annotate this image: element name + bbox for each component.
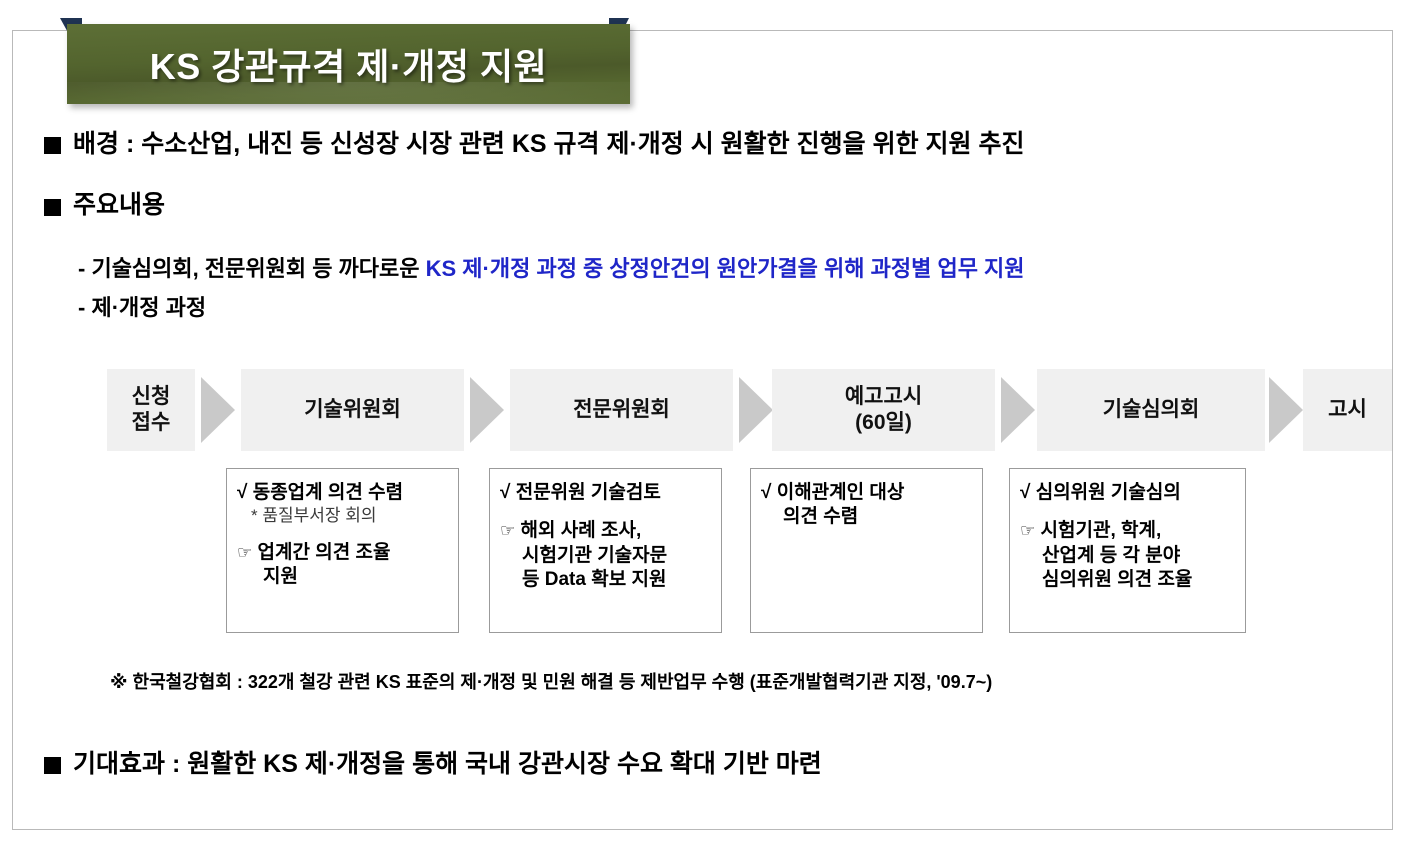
detail-4-check-line: √ 심의위원 기술심의 — [1020, 481, 1235, 505]
detail-4-hand-line: ☞ 시험기관, 학계, — [1020, 519, 1235, 543]
detail-2-check-line: √ 전문위원 기술검토 — [500, 481, 711, 505]
detail-4-hand-line3: 심의위원 의견 조율 — [1020, 568, 1235, 592]
detail-box-preannouncement: √ 이해관계인 대상 의견 수렴 — [750, 468, 983, 633]
dash-marker: - — [78, 295, 85, 320]
process-flow-diagram: 신청 접수 기술위원회 전문위원회 예고고시 (60일) 기술심의회 고시 — [107, 369, 1362, 451]
flow-stage-expert-committee: 전문위원회 — [510, 369, 733, 451]
page-title: KS 강관규격 제·개정 지원 — [150, 38, 548, 90]
detail-box-technical-committee: √ 동종업계 의견 수렴 * 품질부서장 회의 ☞ 업계간 의견 조율 지원 — [226, 468, 459, 633]
footnote: ※ 한국철강협회 : 322개 철강 관련 KS 표준의 제·개정 및 민원 해… — [110, 668, 992, 694]
detail-1-hand-line1: 업계간 의견 조율 — [258, 542, 391, 563]
flow-arrow-icon-3 — [739, 377, 773, 443]
flow-stage-notification-label: 고시 — [1328, 397, 1367, 423]
detail-4-hand-line1: 시험기관, 학계, — [1041, 520, 1162, 541]
section-expected-effect-text: 기대효과 : 원활한 KS 제·개정을 통해 국내 강관시장 수요 확대 기반 … — [73, 752, 822, 777]
square-bullet-icon — [44, 137, 61, 154]
detail-2-hand-line2: 시험기관 기술자문 — [500, 544, 711, 568]
detail-2-hand-line: ☞ 해외 사례 조사, — [500, 519, 711, 543]
detail-3-check-text2: 의견 수렴 — [761, 505, 972, 529]
detail-2-hand-line3: 등 Data 확보 지원 — [500, 568, 711, 592]
pointing-hand-icon: ☞ — [237, 542, 252, 564]
detail-1-hand-line: ☞ 업계간 의견 조율 — [237, 541, 448, 565]
footnote-text: 한국철강협회 : 322개 철강 관련 KS 표준의 제·개정 및 민원 해결 … — [133, 672, 993, 692]
detail-3-check-line: √ 이해관계인 대상 — [761, 481, 972, 505]
main-content-sub-item-1: - 기술심의회, 전문위원회 등 까다로운 KS 제·개정 과정 중 상정안건의… — [78, 258, 1025, 280]
detail-2-spacer — [500, 505, 711, 519]
pointing-hand-icon: ☞ — [500, 520, 515, 542]
flow-stage-deliberation-committee: 기술심의회 — [1037, 369, 1265, 451]
dash-marker: - — [78, 256, 85, 281]
flow-stage-preannouncement-line1: 예고고시 — [845, 384, 922, 410]
flow-stage-deliberation-committee-label: 기술심의회 — [1103, 397, 1200, 423]
detail-2-check-text: 전문위원 기술검토 — [516, 482, 661, 503]
section-background-text: 배경 : 수소산업, 내진 등 신성장 시장 관련 KS 규격 제·개정 시 원… — [73, 132, 1024, 157]
detail-2-hand-line1: 해외 사례 조사, — [521, 520, 642, 541]
sub-item-1-plain: 기술심의회, 전문위원회 등 까다로운 — [91, 256, 425, 281]
flow-stage-application-line1: 신청 — [132, 384, 171, 410]
title-banner: KS 강관규격 제·개정 지원 — [22, 18, 630, 104]
flow-stage-preannouncement-line2: (60일) — [845, 410, 922, 436]
check-mark-icon: √ — [237, 481, 247, 505]
detail-4-spacer — [1020, 505, 1235, 519]
detail-1-note: * 품질부서장 회의 — [237, 505, 448, 527]
banner-body: KS 강관규격 제·개정 지원 — [67, 24, 630, 104]
square-bullet-icon — [44, 757, 61, 774]
flow-arrow-icon-1 — [201, 377, 235, 443]
section-main-content: 주요내용 — [44, 193, 165, 218]
flow-stage-technical-committee-label: 기술위원회 — [304, 397, 401, 423]
flow-arrow-icon-2 — [470, 377, 504, 443]
detail-1-check-line: √ 동종업계 의견 수렴 — [237, 481, 448, 505]
section-background: 배경 : 수소산업, 내진 등 신성장 시장 관련 KS 규격 제·개정 시 원… — [44, 132, 1024, 157]
detail-4-hand-line2: 산업계 등 각 분야 — [1020, 544, 1235, 568]
flow-stage-application: 신청 접수 — [107, 369, 195, 451]
sub-item-1-highlight: KS 제·개정 과정 중 상정안건의 원안가결을 위해 과정별 업무 지원 — [426, 256, 1025, 281]
flow-stage-technical-committee: 기술위원회 — [241, 369, 464, 451]
check-mark-icon: √ — [761, 481, 771, 505]
detail-1-spacer — [237, 527, 448, 541]
section-main-content-heading: 주요내용 — [73, 193, 165, 218]
footnote-marker-icon: ※ — [110, 672, 128, 692]
flow-stage-application-line2: 접수 — [132, 410, 171, 436]
flow-arrow-icon-4 — [1001, 377, 1035, 443]
detail-box-deliberation-committee: √ 심의위원 기술심의 ☞ 시험기관, 학계, 산업계 등 각 분야 심의위원 … — [1009, 468, 1246, 633]
detail-1-hand-line2: 지원 — [237, 565, 448, 589]
flow-stage-preannouncement: 예고고시 (60일) — [772, 369, 995, 451]
flow-stage-notification: 고시 — [1303, 369, 1392, 451]
sub-item-2-plain: 제·개정 과정 — [91, 295, 206, 320]
pointing-hand-icon: ☞ — [1020, 520, 1035, 542]
main-content-sub-item-2: - 제·개정 과정 — [78, 297, 206, 319]
slide-root: KS 강관규격 제·개정 지원 배경 : 수소산업, 내진 등 신성장 시장 관… — [0, 0, 1409, 861]
section-expected-effect: 기대효과 : 원활한 KS 제·개정을 통해 국내 강관시장 수요 확대 기반 … — [44, 752, 822, 777]
square-bullet-icon — [44, 199, 61, 216]
flow-stage-expert-committee-label: 전문위원회 — [573, 397, 670, 423]
detail-4-check-text: 심의위원 기술심의 — [1036, 482, 1181, 503]
flow-arrow-icon-5 — [1269, 377, 1303, 443]
detail-3-check-text: 이해관계인 대상 — [777, 482, 905, 503]
check-mark-icon: √ — [1020, 481, 1030, 505]
check-mark-icon: √ — [500, 481, 510, 505]
detail-1-check-text: 동종업계 의견 수렴 — [253, 482, 403, 503]
detail-box-expert-committee: √ 전문위원 기술검토 ☞ 해외 사례 조사, 시험기관 기술자문 등 Data… — [489, 468, 722, 633]
